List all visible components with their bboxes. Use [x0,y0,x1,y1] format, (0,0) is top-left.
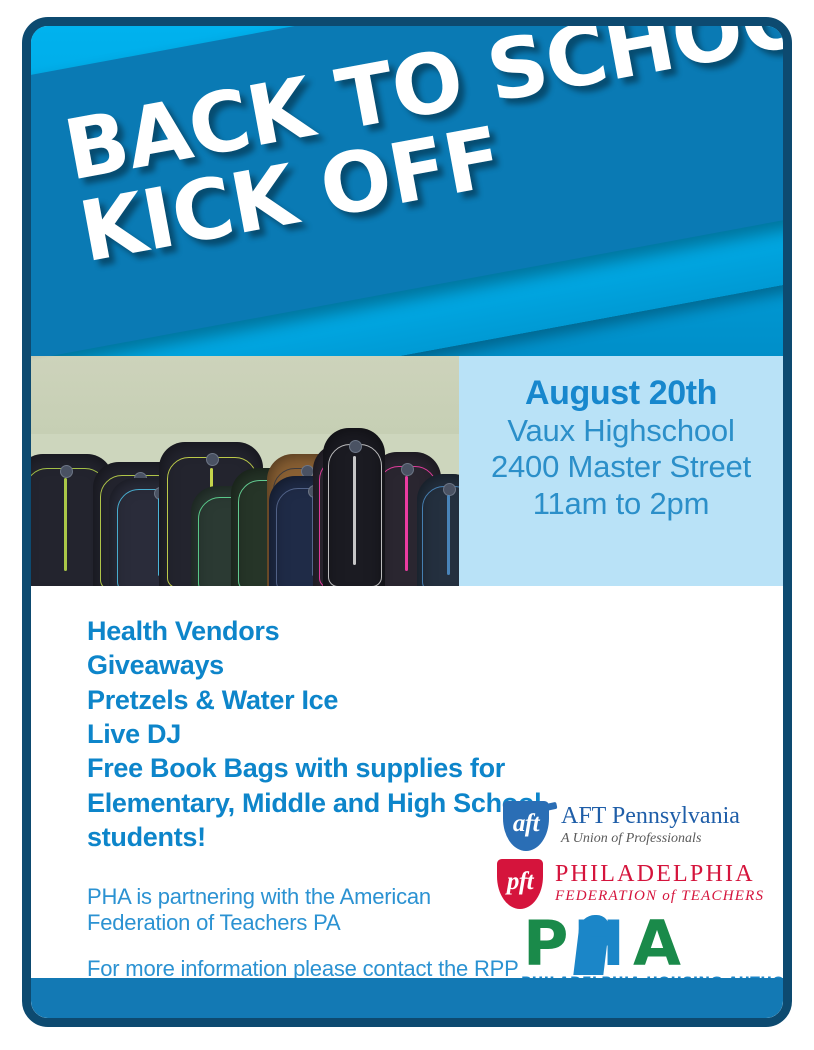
partner-note: PHA is partnering with the American Fede… [87,884,527,937]
pft-shield-icon: pft [497,859,543,909]
pft-tagline: FEDERATION of TEACHERS [555,887,764,906]
event-time: 11am to 2pm [459,486,783,522]
feature-list: Health Vendors Giveaways Pretzels & Wate… [87,614,338,751]
pha-monogram: P H A [521,913,711,975]
footer-accent-bar [31,978,783,1018]
poster-body: Health Vendors Giveaways Pretzels & Wate… [31,586,783,1018]
pha-letter-h: H [573,913,623,975]
philadelphia-federation-of-teachers-logo: pft PHILADELPHIA FEDERATION of TEACHERS [497,859,764,909]
list-item: Pretzels & Water Ice [87,683,338,717]
aft-swoosh-icon [535,802,558,813]
pft-name: PHILADELPHIA [555,862,764,887]
pha-letter-a: A [633,913,679,975]
photo-backpack-pile [31,414,459,586]
list-item: Health Vendors [87,614,338,648]
event-date: August 20th [459,374,783,413]
event-details-panel: August 20th Vaux Highschool 2400 Master … [459,356,783,586]
list-item: Giveaways [87,648,338,682]
bookbag-headline: Free Book Bags with supplies for Element… [87,751,557,855]
pft-wordmark: PHILADELPHIA FEDERATION of TEACHERS [555,862,764,906]
backpacks-photo [31,356,459,586]
aft-name: AFT Pennsylvania [561,804,740,829]
poster-header: BACK TO SCHOOL KICK OFF [31,26,783,586]
aft-shield-icon: aft [503,801,549,851]
pha-letter-p: P [523,913,566,975]
aft-tagline: A Union of Professionals [561,830,740,848]
pft-shield-label: pft [507,868,533,896]
flyer-poster: BACK TO SCHOOL KICK OFF [22,17,792,1027]
aft-shield-label: aft [513,810,539,838]
event-venue: Vaux Highschool [459,413,783,449]
aft-wordmark: AFT Pennsylvania A Union of Professional… [561,804,740,847]
event-address: 2400 Master Street [459,449,783,485]
aft-pennsylvania-logo: aft AFT Pennsylvania A Union of Professi… [503,801,740,851]
list-item: Live DJ [87,717,338,751]
